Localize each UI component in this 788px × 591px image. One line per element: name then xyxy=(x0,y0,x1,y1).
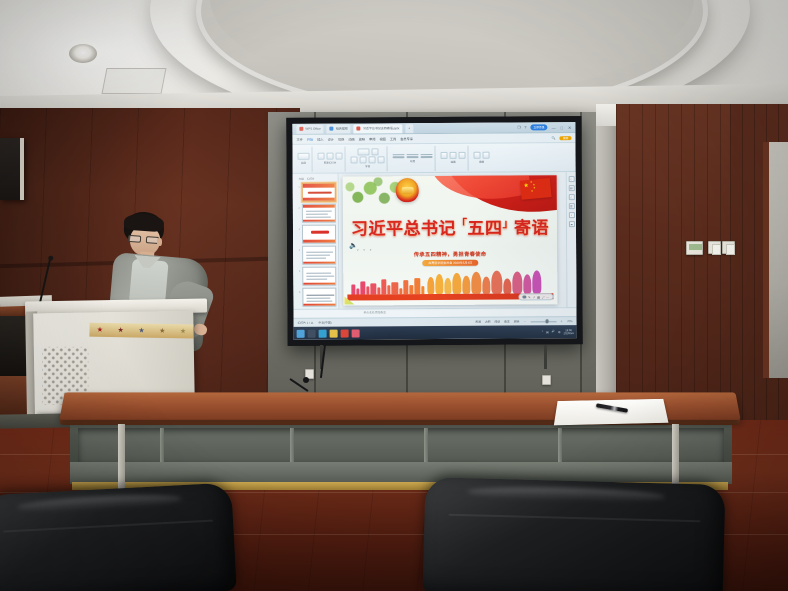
thumbnail-number: 6 xyxy=(297,288,300,294)
ribbon-group-drawing: 绘图 xyxy=(438,145,468,170)
ribbon-group-new-slide: 新建幻灯片 xyxy=(315,146,345,171)
podium-star: ★ xyxy=(97,326,103,333)
design-ideas-icon[interactable]: ◇ xyxy=(568,176,574,182)
menu-review[interactable]: 审阅 xyxy=(369,136,375,141)
ribbon-group-paste: 粘贴 xyxy=(295,146,312,171)
tab-templates[interactable]: 稻壳模板 xyxy=(327,124,351,133)
podium-star: ★ xyxy=(159,327,165,334)
shape-icon[interactable] xyxy=(441,152,448,159)
close-icon[interactable]: ✕ xyxy=(568,125,571,130)
ime-icon[interactable]: 中 xyxy=(558,330,561,334)
login-button[interactable]: 立即登录 xyxy=(530,124,547,130)
current-slide[interactable]: ★ ★ ★ ★ ★ 🔈 ᵥ ᵥ ᵥ xyxy=(343,175,558,305)
cursor-icon[interactable] xyxy=(523,295,527,299)
tab-wps-office[interactable]: WPS Office xyxy=(296,124,324,133)
thumbnail-number: 1 xyxy=(297,183,300,189)
tab-label: 习近平总书记五四寄语.pptx xyxy=(363,126,400,130)
thumbnail-item[interactable]: 3 xyxy=(297,225,336,244)
menu-member[interactable]: 会员专享 xyxy=(400,136,413,141)
slideshow-float-toolbar[interactable]: ✎ ↗ ▦ ⤢ ⋯ xyxy=(519,293,554,300)
white-paper-sheet[interactable] xyxy=(554,399,669,425)
restore-icon[interactable]: ❐ xyxy=(517,125,520,129)
ribbon-group-label: 编辑 xyxy=(479,160,484,164)
more-icon[interactable]: ⋯ xyxy=(546,295,549,299)
menu-design[interactable]: 设计 xyxy=(328,137,334,142)
template-store-icon[interactable]: ▤ xyxy=(568,185,574,191)
view-notes-button[interactable]: 备注 xyxy=(504,320,510,324)
menu-tools[interactable]: 工具 xyxy=(390,136,396,141)
presenter-ear xyxy=(157,238,162,246)
volume-icon[interactable]: 🔊 xyxy=(552,330,555,333)
edge-icon[interactable] xyxy=(319,329,327,337)
search-icon[interactable]: 🔍 xyxy=(552,136,556,140)
windows-taskbar: ^ 网 🔊 中 19:06 2020/5/4 xyxy=(294,325,577,340)
slide-subtitle: 传承五四精神，勇担青春使命 xyxy=(343,250,557,258)
ribbon-group-label: 字体 xyxy=(365,164,370,168)
podium-star-band: ★ ★ ★ ★ ★ xyxy=(89,323,193,339)
search-icon[interactable] xyxy=(308,329,316,337)
system-tray: ^ 网 🔊 中 19:06 2020/5/4 xyxy=(542,329,574,335)
pptx-file-icon xyxy=(357,126,361,130)
zoom-slider[interactable] xyxy=(530,321,556,322)
chair-highlight xyxy=(467,485,665,503)
thumbnail-number: 2 xyxy=(297,204,300,210)
slide-thumbnail[interactable] xyxy=(302,267,336,286)
slide-thumbnail[interactable] xyxy=(301,225,335,244)
italic-icon[interactable] xyxy=(360,156,367,163)
shelf-divider xyxy=(558,428,562,462)
zoom-level: 70% xyxy=(567,319,573,323)
maximize-icon[interactable]: □ xyxy=(561,125,563,130)
ribbon-group-editing: 编辑 xyxy=(471,145,491,170)
indent-icon[interactable] xyxy=(421,154,433,156)
slide-thumbnail[interactable] xyxy=(302,288,336,307)
bullet-list-icon[interactable] xyxy=(393,154,405,156)
cloud-panel-icon[interactable]: ☁ xyxy=(568,221,574,227)
emblem-core xyxy=(401,187,413,194)
slide-title-part3: 寄语 xyxy=(514,218,549,237)
slide-title-part2: 五四 xyxy=(467,219,502,238)
menu-file[interactable]: 文件 xyxy=(296,137,302,142)
slides-tab[interactable]: 幻灯片 xyxy=(307,177,315,181)
underline-icon[interactable] xyxy=(369,156,376,163)
slide-thumbnail-panel[interactable]: 大纲 幻灯片 1 2 xyxy=(293,174,340,309)
thumbnail-item[interactable]: 1 xyxy=(297,183,336,202)
projection-screen: WPS Office 稻壳模板 习近平总书记五四寄语.pptx + ❐ xyxy=(286,116,582,346)
help-icon[interactable]: ? xyxy=(524,125,526,129)
taskbar-clock[interactable]: 19:06 2020/5/4 xyxy=(563,329,573,335)
thermostat-screen xyxy=(689,244,702,250)
tab-bar-right: ❐ ? 立即登录 — □ ✕ xyxy=(517,124,571,130)
section-icon[interactable] xyxy=(336,153,343,160)
wps-ribbon: 粘贴 新建幻灯片 xyxy=(292,143,575,174)
shelf-divider xyxy=(290,428,294,462)
view-outline-button[interactable]: 大纲 xyxy=(485,320,491,324)
wps-logo-icon xyxy=(299,127,303,131)
find-icon[interactable] xyxy=(474,152,481,159)
slide-editing-stage[interactable]: ★ ★ ★ ★ ★ 🔈 ᵥ ᵥ ᵥ xyxy=(339,172,567,308)
app-icon[interactable] xyxy=(352,329,360,337)
right-wood-wall xyxy=(616,104,734,420)
tab-active-presentation[interactable]: 习近平总书记五四寄语.pptx xyxy=(354,124,403,133)
zoom-in-button[interactable]: ＋ xyxy=(560,319,563,323)
menu-slideshow[interactable]: 放映 xyxy=(359,136,365,141)
slide-thumbnail[interactable] xyxy=(301,204,335,223)
youth-league-emblem xyxy=(396,178,419,202)
china-flag: ★ ★ ★ ★ ★ xyxy=(520,178,552,200)
podium-star: ★ xyxy=(138,327,144,334)
shelf-divider xyxy=(424,428,428,462)
podium-star: ★ xyxy=(180,328,186,335)
zoom-slider-knob[interactable] xyxy=(545,319,548,323)
presenter-fringe xyxy=(123,213,164,233)
light-switch[interactable] xyxy=(708,241,721,254)
chart-panel-icon[interactable]: ▥ xyxy=(568,203,574,209)
wall-speaker xyxy=(0,138,24,200)
menu-view[interactable]: 视图 xyxy=(379,136,385,141)
thumbnail-item[interactable]: 5 xyxy=(297,267,336,286)
chair-highlight xyxy=(17,492,182,514)
slide-badge: 共青团学院委员会 2020年5月4日 xyxy=(422,260,478,266)
power-outlet[interactable] xyxy=(542,375,551,385)
recessed-spotlight xyxy=(69,44,97,63)
thumbnail-item[interactable]: 2 xyxy=(297,204,336,223)
screen-surface: WPS Office 稻壳模板 习近平总书记五四寄语.pptx + ❐ xyxy=(292,122,576,340)
status-bar-right: 普通 大纲 阅读 备注 放映 － ＋ 70% xyxy=(475,319,572,324)
thumbnail-number: 5 xyxy=(297,267,300,273)
tab-label: 稻壳模板 xyxy=(336,127,348,131)
align-left-icon[interactable] xyxy=(393,156,405,158)
foreground-chair-right[interactable] xyxy=(423,477,726,591)
clock-date: 2020/5/4 xyxy=(564,332,574,335)
replace-icon[interactable] xyxy=(483,152,490,159)
font-color-icon[interactable] xyxy=(378,156,385,163)
template-icon xyxy=(330,127,334,131)
paste-icon[interactable] xyxy=(298,153,310,160)
slide-thumbnail[interactable] xyxy=(301,183,335,202)
flag-small-star: ★ xyxy=(531,191,534,194)
media-panel-icon[interactable]: ♪ xyxy=(568,212,574,218)
conference-room-scene: WPS Office 稻壳模板 习近平总书记五四寄语.pptx + ❐ xyxy=(0,0,788,591)
number-list-icon[interactable] xyxy=(407,154,419,156)
wps-icon[interactable] xyxy=(341,329,349,337)
ribbon-group-label: 绘图 xyxy=(451,160,456,164)
ceiling-access-panel xyxy=(101,68,166,94)
explorer-icon[interactable] xyxy=(330,329,338,337)
wps-office-window: WPS Office 稻壳模板 习近平总书记五四寄语.pptx + ❐ xyxy=(292,122,576,340)
grid-icon[interactable]: ▦ xyxy=(537,295,540,299)
menu-animations[interactable]: 动画 xyxy=(348,136,354,141)
network-icon[interactable]: 网 xyxy=(546,330,549,334)
open-doorway[interactable] xyxy=(763,142,788,378)
ribbon-group-paragraph: 段落 xyxy=(390,145,435,170)
tray-expand-icon[interactable]: ^ xyxy=(542,330,543,333)
outlet-plug xyxy=(303,377,309,383)
windows-start-icon[interactable] xyxy=(297,329,305,337)
arrange-icon[interactable] xyxy=(450,152,457,159)
thumbnail-item[interactable]: 6 xyxy=(297,288,336,307)
menu-transitions[interactable]: 切换 xyxy=(338,137,344,142)
pen-icon[interactable]: ✎ xyxy=(528,295,531,299)
chair-seam xyxy=(449,514,701,523)
language-indicator[interactable]: 中文(中国) xyxy=(319,321,332,325)
menu-bar-right: 🔍 保存 xyxy=(552,136,572,140)
align-right-icon[interactable] xyxy=(421,156,433,158)
ribbon-group-font: 字体 xyxy=(348,146,387,171)
new-slide-icon[interactable] xyxy=(318,153,325,160)
view-reading-button[interactable]: 阅读 xyxy=(494,320,500,324)
thumbnail-panel-header: 大纲 幻灯片 xyxy=(297,177,336,181)
thumbnail-item[interactable]: 4 xyxy=(297,246,336,265)
bold-icon[interactable] xyxy=(351,156,358,163)
thumbnail-number: 3 xyxy=(297,225,300,231)
save-button[interactable]: 保存 xyxy=(560,136,572,140)
outline-tab[interactable]: 大纲 xyxy=(299,177,304,181)
shapes-panel-icon[interactable]: △ xyxy=(568,194,574,200)
font-size-select[interactable] xyxy=(371,148,378,155)
flag-small-star: ★ xyxy=(533,187,536,190)
ribbon-group-label: 新建幻灯片 xyxy=(324,161,337,165)
expand-icon[interactable]: ⤢ xyxy=(542,295,544,299)
font-family-select[interactable] xyxy=(357,148,369,155)
laser-icon[interactable]: ↗ xyxy=(533,295,536,299)
slide-thumbnail[interactable] xyxy=(302,246,336,265)
screen-stand xyxy=(306,345,564,369)
shelf-divider xyxy=(160,428,164,462)
new-tab-button[interactable]: + xyxy=(405,124,413,133)
bracket-open: 「 xyxy=(456,218,468,230)
slide-title-part1: 习近平总书记 xyxy=(351,219,456,239)
wps-workspace: 大纲 幻灯片 1 2 xyxy=(293,172,577,309)
view-slideshow-button[interactable]: 放映 xyxy=(514,319,520,323)
chair-seam xyxy=(3,520,213,533)
thumbnail-number: 4 xyxy=(297,246,300,252)
light-switch[interactable] xyxy=(722,241,735,254)
table-front-apron xyxy=(70,462,732,484)
podium-star: ★ xyxy=(117,327,123,334)
plus-icon: + xyxy=(408,126,410,130)
slide-counter: 幻灯片 1 / 11 xyxy=(298,321,314,325)
zoom-out-button[interactable]: － xyxy=(523,319,526,323)
shape-fill-icon[interactable] xyxy=(459,152,466,159)
menu-home[interactable]: 开始 xyxy=(307,137,313,142)
minimize-icon[interactable]: — xyxy=(552,125,556,130)
slide-title: 习近平总书记「五四」寄语 xyxy=(343,215,557,239)
bracket-close: 」 xyxy=(502,218,514,230)
flag-big-star: ★ xyxy=(523,183,529,189)
align-center-icon[interactable] xyxy=(407,156,419,158)
right-tool-rail[interactable]: ◇ ▤ △ ▥ ♪ ☁ xyxy=(566,172,577,307)
foreground-chair-left[interactable] xyxy=(0,483,237,591)
table-open-shelf xyxy=(78,428,724,462)
view-normal-button[interactable]: 普通 xyxy=(475,320,481,324)
tab-label: WPS Office xyxy=(305,127,320,131)
ribbon-group-label: 粘贴 xyxy=(301,161,306,165)
ac-thermostat-panel[interactable] xyxy=(686,241,703,255)
layout-icon[interactable] xyxy=(327,153,334,160)
menu-insert[interactable]: 插入 xyxy=(317,137,323,142)
ribbon-group-label: 段落 xyxy=(410,159,415,163)
window-controls: — □ ✕ xyxy=(552,125,572,130)
